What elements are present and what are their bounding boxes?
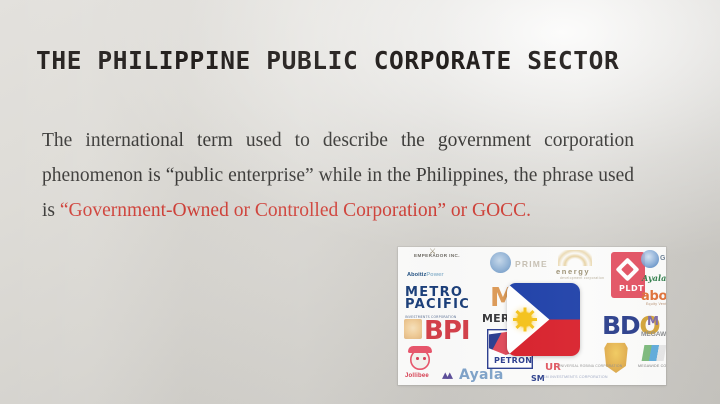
logo-aboitizpower-part2: Power bbox=[426, 272, 443, 278]
logo-aboitizpower-part1: Aboitiz bbox=[407, 272, 426, 278]
ayala-mark-icon: ▴▴ bbox=[442, 369, 451, 382]
logo-energy: energy bbox=[556, 268, 590, 276]
slide-canvas: The Philippine Public Corporate Sector T… bbox=[0, 0, 720, 404]
logo-bpi: BPI bbox=[424, 318, 470, 344]
logo-megawide: MEGAWIDE CONSTRUCTION bbox=[638, 365, 666, 369]
philippine-flag-icon bbox=[507, 283, 580, 356]
body-text-highlight: “Government-Owned or Controlled Corporat… bbox=[60, 200, 531, 221]
logo-sm-investments: SM INVESTMENTS CORPORATION bbox=[543, 376, 608, 380]
logo-megaworld: MEGAWORLD bbox=[641, 332, 666, 339]
logo-prime: PRIME bbox=[515, 260, 548, 269]
logo-energy-sub: development corporation bbox=[560, 277, 604, 280]
bpi-crest-icon bbox=[404, 319, 422, 339]
energy-mark-icon bbox=[558, 250, 592, 266]
body-paragraph: The international term used to describe … bbox=[42, 123, 634, 228]
jollibee-mascot-icon bbox=[406, 347, 436, 375]
logo-aboitizpower: AboitizPower bbox=[407, 273, 444, 279]
logo-ayalaland: AyalaLand bbox=[642, 274, 666, 282]
logo-petron: PETRON bbox=[494, 357, 532, 365]
logo-collage-image: ⚔ EMPERADOR INC. AboitizPower METROPACIF… bbox=[398, 247, 666, 385]
prime-mark-icon bbox=[490, 252, 511, 273]
logo-globe: Globe bbox=[660, 255, 666, 262]
megaworld-mark-icon: M bbox=[647, 315, 657, 327]
megawide-mark-icon bbox=[642, 345, 666, 361]
logo-emperador: EMPERADOR INC. bbox=[414, 254, 460, 259]
logo-ayala: Ayala bbox=[459, 368, 504, 382]
logo-bdo-bd: BD bbox=[602, 311, 639, 340]
logo-aboitiz-sub: Equity Ventures bbox=[646, 303, 666, 306]
page-title: The Philippine Public Corporate Sector bbox=[36, 46, 686, 76]
logo-jollibee: Jollibee bbox=[405, 373, 429, 379]
globe-mark-icon bbox=[641, 250, 659, 268]
logo-metro-pacific-line2: PACIFIC bbox=[405, 297, 470, 312]
logo-universal-robina: UNIVERSAL ROBINA CORPORATION bbox=[558, 365, 622, 368]
